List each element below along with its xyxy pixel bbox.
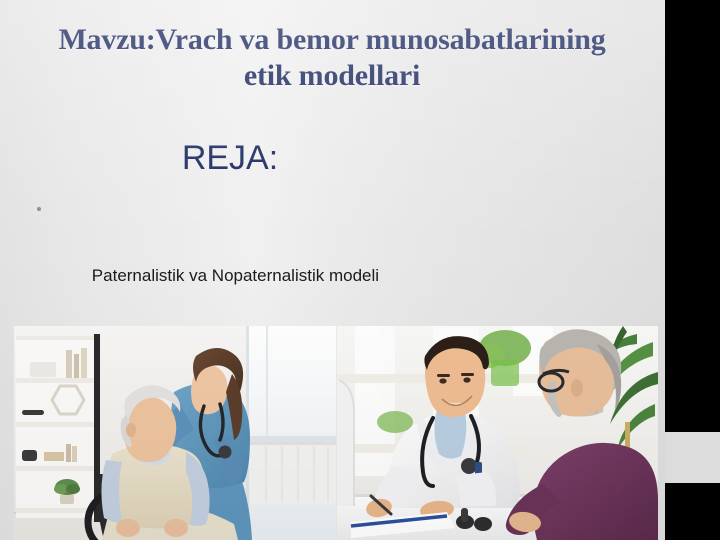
bullet-dot-icon	[37, 207, 41, 211]
slide-canvas: Mavzu:Vrach va bemor munosabatlarining e…	[0, 0, 665, 540]
presentation-slide: Mavzu:Vrach va bemor munosabatlarining e…	[0, 0, 720, 540]
section-heading-reja: REJA:	[60, 138, 400, 178]
side-panel-gray	[665, 432, 720, 483]
list-item-label: Paternalistik va Nopaternalistik modeli	[92, 266, 379, 285]
list-item: Paternalistik va Nopaternalistik modeli	[33, 193, 503, 325]
letterbox-bar-bottom-right	[665, 483, 720, 540]
nurse-with-elderly-patient-photo	[14, 326, 336, 540]
slide-title-line-2: etik modellari	[8, 58, 656, 94]
slide-title: Mavzu:Vrach va bemor munosabatlarining e…	[8, 22, 656, 94]
slide-title-line-1: Mavzu:Vrach va bemor munosabatlarining	[8, 22, 656, 58]
letterbox-bar-top-right	[665, 0, 720, 432]
doctor-consulting-elderly-patient-photo	[337, 326, 658, 540]
